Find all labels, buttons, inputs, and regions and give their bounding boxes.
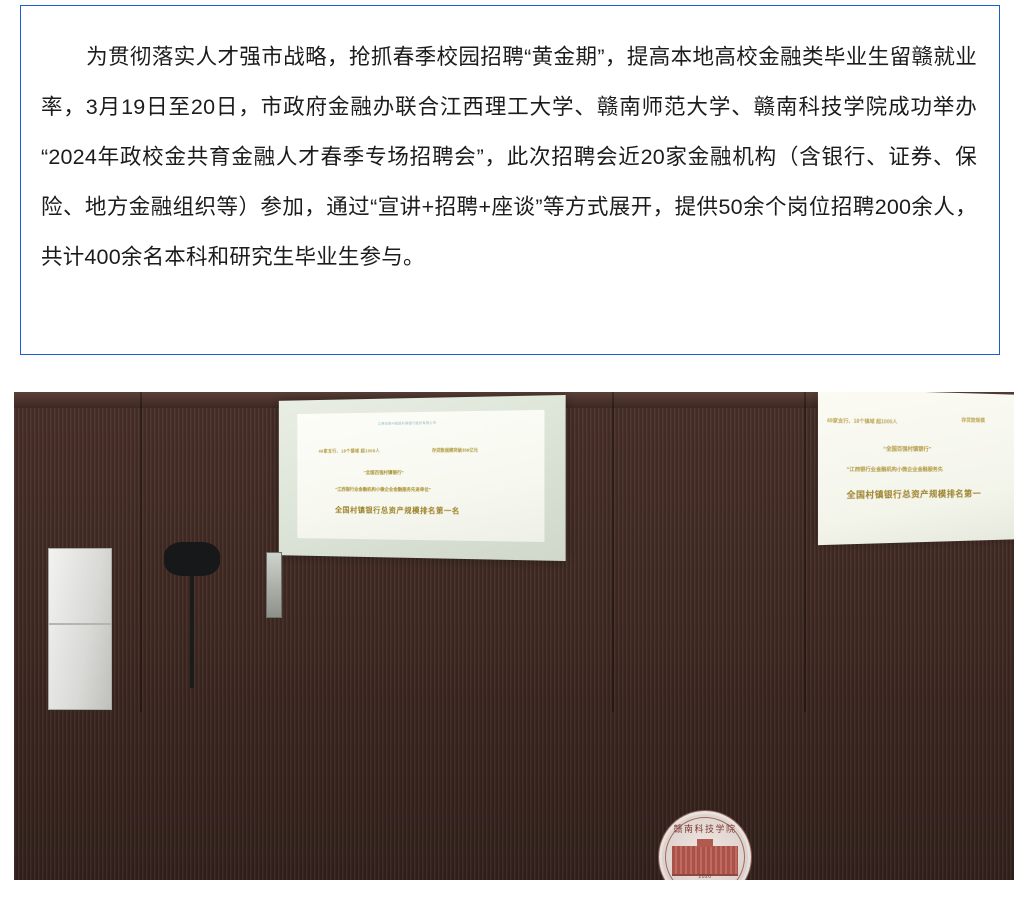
article-paragraph: 为贯彻落实人才强市战略，抢抓春季校园招聘“黄金期”，提高本地高校金融类毕业生留赣…	[41, 32, 977, 282]
slide-line-2: “全国百强村镇银行”	[364, 470, 404, 476]
slide-right-line-1-left: 49家支行、18个镇域 超1000人	[827, 417, 897, 425]
article-text-box: 为贯彻落实人才强市战略，抢抓春季校园招聘“黄金期”，提高本地高校金融类毕业生留赣…	[20, 5, 1000, 355]
speaker-stand	[190, 568, 194, 688]
wall-light	[266, 552, 282, 618]
slide-right-line-4: 全国村镇银行总资产规模排名第一	[847, 488, 982, 501]
seal-building-icon	[672, 846, 738, 876]
slide-line-4: 全国村镇银行总资产规模排名第一名	[335, 504, 460, 516]
slide-right-line-3: “江西银行业金融机构小微企业金融服务先	[847, 465, 943, 472]
slide-line-1-right: 存贷款规模突破356亿元	[432, 448, 478, 454]
event-photo: 江西省赣州银座村镇银行股份有限公司 49家支行、18个镇域 超1000人 存贷款…	[14, 392, 1014, 888]
slide-line-1-left: 49家支行、18个镇域 超1000人	[319, 449, 380, 455]
wall-seam	[804, 392, 806, 712]
photo-bottom-edge	[14, 880, 1014, 888]
university-seal-icon: 赣南科技学院 2020 GANNAN UNIVERSITY OF SCIENCE…	[658, 810, 752, 888]
slide-right-line-2: “全国百强村镇银行”	[883, 444, 931, 452]
air-conditioner-cabinet	[48, 548, 112, 710]
seal-name: 赣南科技学院	[659, 822, 751, 835]
wall-seam	[140, 392, 142, 712]
article-body: 为贯彻落实人才强市战略，抢抓春季校园招聘“黄金期”，提高本地高校金融类毕业生留赣…	[21, 6, 999, 300]
projection-screen-right: 49家支行、18个镇域 超1000人 存贷款规模 “全国百强村镇银行” “江西银…	[818, 392, 1014, 545]
slide-content-main: 江西省赣州银座村镇银行股份有限公司 49家支行、18个镇域 超1000人 存贷款…	[298, 410, 545, 542]
slide-right-line-1-right: 存贷款规模	[961, 417, 985, 424]
slide-title: 江西省赣州银座村镇银行股份有限公司	[378, 420, 436, 426]
wall-seam	[612, 392, 614, 712]
loudspeaker	[164, 542, 220, 576]
slide-line-3: “江西银行业金融机构小微企业金融服务先进单位”	[335, 486, 431, 492]
projection-screen-main: 江西省赣州银座村镇银行股份有限公司 49家支行、18个镇域 超1000人 存贷款…	[279, 395, 566, 561]
